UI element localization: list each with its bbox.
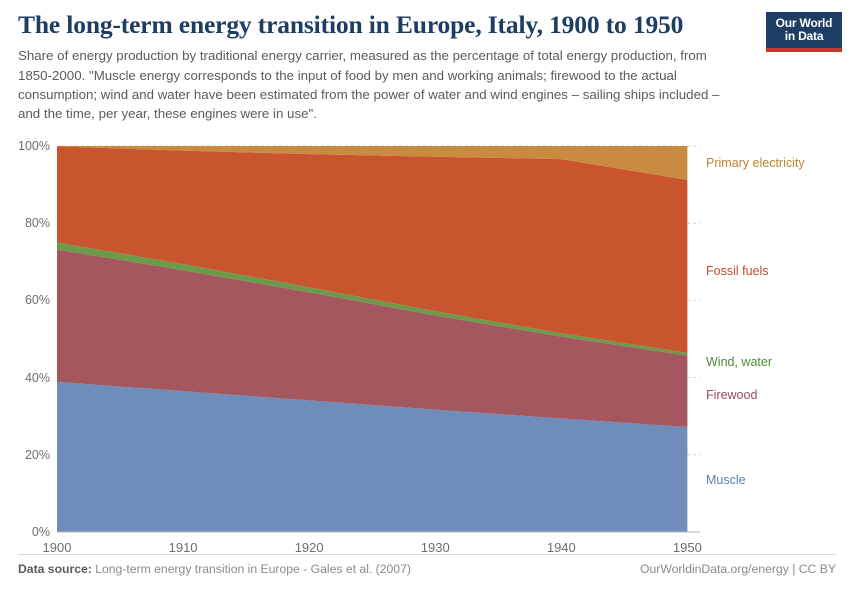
series-label-firewood[interactable]: Firewood: [706, 388, 757, 402]
data-source-text: Long-term energy transition in Europe - …: [95, 562, 411, 576]
x-axis-tick-label: 1930: [421, 540, 450, 555]
x-axis-tick-label: 1940: [547, 540, 576, 555]
data-source-label: Data source:: [18, 562, 92, 576]
series-label-wind-water[interactable]: Wind, water: [706, 355, 772, 369]
series-label-fossil-fuels[interactable]: Fossil fuels: [706, 264, 769, 278]
chart-page: The long-term energy transition in Europ…: [0, 0, 850, 600]
attribution-link[interactable]: OurWorldinData.org/energy | CC BY: [640, 562, 836, 576]
chart-footer: Data source: Long-term energy transition…: [18, 554, 836, 592]
x-axis: 190019101920193019401950: [0, 0, 850, 600]
x-axis-tick-label: 1900: [43, 540, 72, 555]
series-label-muscle[interactable]: Muscle: [706, 473, 746, 487]
x-axis-tick-label: 1910: [169, 540, 198, 555]
x-axis-tick-label: 1950: [673, 540, 702, 555]
data-source: Data source: Long-term energy transition…: [18, 562, 411, 576]
x-axis-tick-label: 1920: [295, 540, 324, 555]
series-label-primary-electricity[interactable]: Primary electricity: [706, 156, 805, 170]
